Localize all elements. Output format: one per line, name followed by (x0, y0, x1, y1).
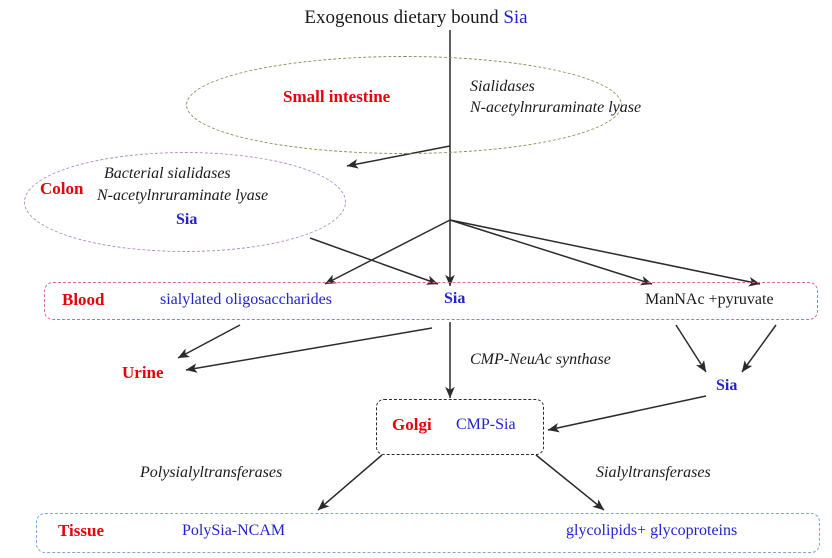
page-title: Exogenous dietary bound Sia (0, 8, 832, 27)
small-intestine-label: Small intestine (283, 88, 390, 105)
colon-sia-metabolite: Sia (176, 212, 197, 228)
colon-enzyme-2: N-acetylnruraminate lyase (97, 188, 268, 204)
blood-label: Blood (62, 291, 105, 308)
cytosolic-sia-metabolite: Sia (716, 378, 737, 394)
blood-sia-metabolite: Sia (444, 291, 465, 307)
tissue-label: Tissue (58, 522, 104, 539)
sialyltransferases-label: Sialyltransferases (596, 465, 711, 481)
mannac-pyruvate-metabolite: ManNAc +pyruvate (645, 292, 774, 308)
title-highlight: Sia (503, 7, 527, 28)
title-prefix: Exogenous dietary bound (304, 7, 503, 28)
small-intestine-enzyme-1: Sialidases (470, 79, 535, 95)
colon-label: Colon (40, 180, 83, 197)
golgi-label: Golgi (392, 416, 432, 433)
glycolipids-glycoproteins-metabolite: glycolipids+ glycoproteins (566, 523, 737, 539)
sialylated-oligosaccharides-metabolite: sialylated oligosaccharides (160, 292, 332, 308)
polysia-ncam-metabolite: PolySia-NCAM (182, 523, 285, 539)
cmp-neuac-synthase-label: CMP-NeuAc synthase (470, 352, 611, 368)
pathway-diagram: Exogenous dietary bound Sia Small intest… (0, 0, 832, 558)
small-intestine-enzyme-2: N-acetylnruraminate lyase (470, 100, 641, 116)
colon-enzyme-1: Bacterial sialidases (104, 166, 231, 182)
polysialyltransferases-label: Polysialyltransferases (140, 465, 282, 481)
cmp-sia-metabolite: CMP-Sia (456, 417, 516, 433)
urine-node: Urine (122, 364, 164, 381)
